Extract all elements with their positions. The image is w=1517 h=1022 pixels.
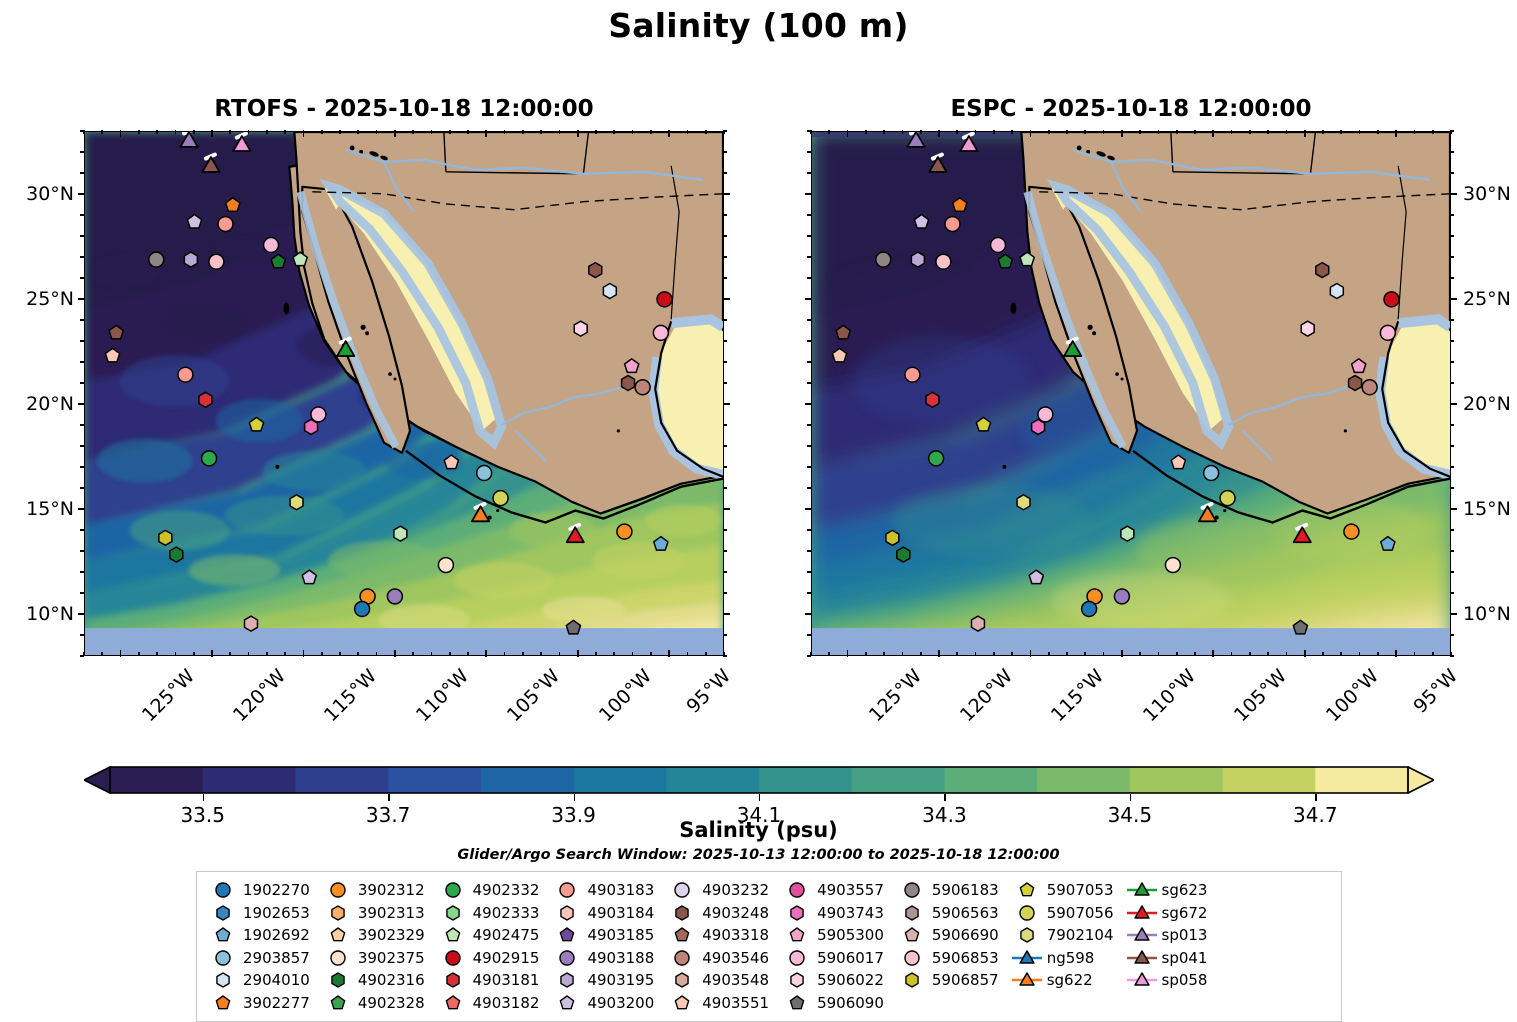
legend-entry[interactable]: 5906690 [895, 924, 999, 947]
legend-entry[interactable]: 1902653 [206, 902, 310, 925]
y-minor-tick [1450, 130, 1454, 132]
legend-label: sp013 [1162, 926, 1208, 944]
y-minor-tick [723, 487, 727, 489]
x-minor-tick [138, 652, 140, 656]
legend-entry[interactable]: 1902692 [206, 924, 310, 947]
legend-entry[interactable]: 3902277 [206, 992, 310, 1015]
legend-label: sg622 [1047, 971, 1093, 989]
platform-marker[interactable] [1038, 407, 1053, 422]
triangle-marker-icon [1010, 948, 1044, 968]
legend-entry[interactable]: sg622 [1010, 969, 1114, 992]
map-rtofs[interactable] [84, 131, 724, 656]
colorbar[interactable]: 33.533.733.934.134.334.534.7 [84, 766, 1434, 794]
y-minor-tick [807, 634, 811, 636]
platform-marker[interactable] [1384, 292, 1399, 307]
y-tick [1450, 508, 1457, 510]
legend-entry[interactable]: 4902332 [436, 879, 540, 902]
x-minor-tick [595, 652, 597, 656]
platform-marker[interactable] [438, 558, 453, 573]
legend-label: sg672 [1162, 904, 1208, 922]
legend-label: 4903551 [702, 994, 769, 1012]
x-tick [847, 650, 849, 657]
platform-marker[interactable] [589, 263, 602, 278]
platform-marker[interactable] [226, 198, 240, 212]
legend-label: 4902915 [473, 949, 540, 967]
platform-marker[interactable] [617, 524, 632, 539]
x-tick-label: 110°W [1139, 665, 1200, 726]
circle-marker-icon [780, 948, 814, 968]
figure-root: Salinity (100 m) RTOFS - 2025-10-18 12:0… [0, 0, 1517, 1015]
x-minor-tick [1432, 652, 1434, 656]
platform-marker[interactable] [1220, 491, 1235, 506]
panel-rtofs: RTOFS - 2025-10-18 12:00:00 [84, 131, 724, 656]
x-tick [1395, 130, 1397, 137]
platform-marker[interactable] [654, 537, 668, 551]
y-tick [78, 193, 85, 195]
x-tick [577, 130, 579, 137]
legend-entry[interactable]: 4902915 [436, 947, 540, 970]
circle-marker-icon [895, 880, 929, 900]
platform-marker[interactable] [477, 466, 492, 481]
y-minor-tick [80, 319, 84, 321]
platform-marker[interactable] [209, 254, 224, 269]
x-minor-tick [540, 130, 542, 134]
legend-entry[interactable]: 4903200 [550, 992, 654, 1015]
x-tick-label: 95°W [683, 665, 736, 718]
platform-marker[interactable] [1293, 620, 1307, 634]
legend-label: 4903318 [702, 926, 769, 944]
platform-marker[interactable] [945, 217, 960, 232]
x-minor-tick [376, 130, 378, 134]
y-minor-tick [723, 592, 727, 594]
hexagon-marker-icon [321, 903, 355, 923]
platform-marker[interactable] [1380, 325, 1395, 340]
platform-marker[interactable] [897, 547, 910, 562]
platform-marker[interactable] [311, 407, 326, 422]
x-minor-tick [540, 652, 542, 656]
x-minor-tick [828, 130, 830, 134]
pentagon-marker-icon [321, 993, 355, 1013]
legend-entry[interactable]: 3902329 [321, 924, 425, 947]
platform-marker[interactable] [1171, 455, 1185, 469]
x-minor-tick [1103, 652, 1105, 656]
legend-label: 1902270 [243, 881, 310, 899]
legend-entry[interactable]: 4903184 [550, 902, 654, 925]
platform-marker[interactable] [929, 451, 944, 466]
legend-entry[interactable]: 3902313 [321, 902, 425, 925]
legend-entry[interactable]: sp058 [1125, 969, 1208, 992]
x-minor-tick [865, 652, 867, 656]
x-minor-tick [1231, 130, 1233, 134]
platform-marker[interactable] [1349, 376, 1362, 391]
x-minor-tick [632, 652, 634, 656]
platform-marker[interactable] [355, 602, 370, 617]
x-tick [847, 130, 849, 137]
y-tick [805, 613, 812, 615]
x-minor-tick [1048, 130, 1050, 134]
platform-marker[interactable] [493, 491, 508, 506]
x-minor-tick [1066, 130, 1068, 134]
x-tick [211, 130, 213, 137]
platform-marker[interactable] [170, 547, 183, 562]
legend-label: 5905300 [817, 926, 884, 944]
y-minor-tick [1450, 571, 1454, 573]
legend-column: 590705359070567902104ng598sg622 [1010, 879, 1114, 992]
x-tick-label: 100°W [595, 665, 656, 726]
platform-marker[interactable] [218, 217, 233, 232]
hexagon-marker-icon [780, 970, 814, 990]
platform-marker[interactable] [202, 451, 217, 466]
y-minor-tick [1450, 634, 1454, 636]
circle-marker-icon [206, 880, 240, 900]
platform-marker[interactable] [1352, 359, 1366, 373]
platform-marker[interactable] [1381, 537, 1395, 551]
legend-label: 4902475 [473, 926, 540, 944]
platform-marker[interactable] [178, 367, 193, 382]
legend-entry[interactable]: 3902312 [321, 879, 425, 902]
circle-marker-icon [321, 880, 355, 900]
y-tick-label: 20°N [1463, 393, 1511, 415]
x-minor-tick [595, 130, 597, 134]
legend-label: 4903188 [587, 949, 654, 967]
platform-marker[interactable] [972, 616, 985, 631]
platform-marker[interactable] [305, 420, 318, 435]
y-minor-tick [1450, 151, 1454, 153]
legend-entry[interactable]: 4903181 [436, 969, 540, 992]
platform-marker[interactable] [832, 348, 846, 362]
legend-entry[interactable]: sg623 [1125, 879, 1208, 902]
platform-marker[interactable] [567, 525, 584, 542]
platform-marker[interactable] [622, 376, 635, 391]
x-minor-tick [1084, 130, 1086, 134]
platform-marker[interactable] [635, 380, 650, 395]
platform-marker[interactable] [991, 237, 1006, 252]
x-minor-tick [522, 130, 524, 134]
platform-marker[interactable] [1121, 526, 1134, 541]
x-tick [1121, 130, 1123, 137]
legend-entry[interactable]: 4903546 [665, 947, 769, 970]
panel-espc-title: ESPC - 2025-10-18 12:00:00 [811, 96, 1451, 122]
platform-marker[interactable] [936, 254, 951, 269]
platform-marker[interactable] [271, 254, 285, 268]
legend-entry[interactable]: 5907056 [1010, 902, 1114, 925]
platform-legend: 1902270190265319026922903857290401039022… [196, 871, 1342, 1022]
hexagon-marker-icon [321, 970, 355, 990]
legend-label: 4903546 [702, 949, 769, 967]
legend-entry[interactable]: 5906022 [780, 969, 884, 992]
platform-marker[interactable] [180, 132, 197, 147]
pentagon-marker-icon [780, 993, 814, 1013]
colorbar-tick [1130, 794, 1131, 801]
y-minor-tick [80, 151, 84, 153]
y-minor-tick [807, 151, 811, 153]
platform-marker[interactable] [1064, 339, 1081, 356]
legend-entry[interactable]: 4903232 [665, 879, 769, 902]
legend-entry[interactable]: 5906853 [895, 947, 999, 970]
platform-marker[interactable] [1362, 380, 1377, 395]
platform-marker[interactable] [1316, 263, 1329, 278]
x-tick [668, 650, 670, 657]
platform-marker[interactable] [290, 495, 303, 510]
legend-entry[interactable]: sg672 [1125, 902, 1208, 925]
platform-marker[interactable] [653, 325, 668, 340]
platform-marker[interactable] [976, 417, 990, 431]
y-minor-tick [80, 655, 84, 657]
platform-marker[interactable] [911, 252, 924, 267]
x-minor-tick [504, 130, 506, 134]
platform-marker[interactable] [1029, 570, 1043, 584]
legend-entry[interactable]: 5906090 [780, 992, 884, 1015]
legend-column: 4902332490233349024754902915490318149031… [436, 879, 540, 1014]
platform-marker[interactable] [926, 392, 939, 407]
y-minor-tick [807, 445, 811, 447]
legend-entry[interactable]: 2904010 [206, 969, 310, 992]
y-minor-tick [1450, 466, 1454, 468]
legend-entry[interactable]: 4902316 [321, 969, 425, 992]
x-tick-label: 115°W [1047, 665, 1108, 726]
platform-marker[interactable] [387, 589, 402, 604]
x-minor-tick [284, 652, 286, 656]
platform-marker[interactable] [574, 321, 587, 336]
legend-entry[interactable]: 4903195 [550, 969, 654, 992]
platform-marker[interactable] [960, 134, 977, 151]
x-tick-label: 105°W [503, 665, 564, 726]
x-minor-tick [650, 130, 652, 134]
y-minor-tick [1450, 214, 1454, 216]
legend-label: sp041 [1162, 949, 1208, 967]
y-minor-tick [1450, 382, 1454, 384]
x-minor-tick [1322, 652, 1324, 656]
x-tick [1212, 130, 1214, 137]
legend-entry[interactable]: 4902328 [321, 992, 425, 1015]
y-minor-tick [80, 424, 84, 426]
y-tick [78, 403, 85, 405]
platform-marker[interactable] [1082, 602, 1097, 617]
platform-marker[interactable] [233, 134, 250, 151]
pentagon-marker-icon [321, 925, 355, 945]
legend-entry[interactable]: 5906857 [895, 969, 999, 992]
legend-label: 4902333 [473, 904, 540, 922]
legend-entry[interactable]: 3902375 [321, 947, 425, 970]
y-minor-tick [807, 214, 811, 216]
y-minor-tick [1450, 277, 1454, 279]
legend-entry[interactable]: 4903183 [550, 879, 654, 902]
x-minor-tick [613, 130, 615, 134]
x-minor-tick [1377, 130, 1379, 134]
x-minor-tick [1231, 652, 1233, 656]
legend-label: 4903743 [817, 904, 884, 922]
legend-columns: 1902270190265319026922903857290401039022… [206, 879, 1332, 1014]
y-tick [805, 193, 812, 195]
legend-label: 4902316 [358, 971, 425, 989]
platform-marker[interactable] [1199, 504, 1216, 521]
circle-marker-icon [1010, 903, 1044, 923]
y-minor-tick [80, 214, 84, 216]
y-minor-tick [80, 235, 84, 237]
legend-entry[interactable]: 4903188 [550, 947, 654, 970]
legend-entry[interactable]: 5907053 [1010, 879, 1114, 902]
legend-entry[interactable]: 7902104 [1010, 924, 1114, 947]
platform-marker[interactable] [1301, 321, 1314, 336]
legend-entry[interactable]: 4903182 [436, 992, 540, 1015]
platform-marker[interactable] [998, 254, 1012, 268]
x-tick [120, 650, 122, 657]
platform-marker[interactable] [886, 530, 899, 545]
legend-label: 5906690 [932, 926, 999, 944]
x-tick [668, 130, 670, 137]
legend-label: 5906090 [817, 994, 884, 1012]
legend-entry[interactable]: 4902333 [436, 902, 540, 925]
platform-marker[interactable] [914, 214, 928, 228]
platform-marker[interactable] [472, 504, 489, 521]
y-tick [1450, 193, 1457, 195]
x-minor-tick [266, 652, 268, 656]
legend-entry[interactable]: 4903248 [665, 902, 769, 925]
x-tick-label: 125°W [137, 665, 198, 726]
platform-marker[interactable] [249, 417, 263, 431]
platform-marker[interactable] [1294, 525, 1311, 542]
x-minor-tick [1194, 130, 1196, 134]
legend-entry[interactable]: 4903743 [780, 902, 884, 925]
platform-marker[interactable] [1165, 558, 1180, 573]
x-minor-tick [1377, 652, 1379, 656]
x-minor-tick [975, 652, 977, 656]
y-tick-label: 25°N [0, 288, 74, 310]
platform-marker[interactable] [953, 198, 967, 212]
x-minor-tick [193, 652, 195, 656]
legend-entry[interactable]: sp013 [1125, 924, 1208, 947]
x-tick-label: 110°W [412, 665, 473, 726]
platform-marker[interactable] [876, 252, 891, 267]
triangle-marker-icon [1125, 880, 1159, 900]
platform-marker[interactable] [264, 237, 279, 252]
legend-entry[interactable]: 2903857 [206, 947, 310, 970]
y-minor-tick [723, 214, 727, 216]
legend-entry[interactable]: 4903548 [665, 969, 769, 992]
y-minor-tick [80, 382, 84, 384]
legend-entry[interactable]: 4903557 [780, 879, 884, 902]
legend-label: 5906857 [932, 971, 999, 989]
platform-marker[interactable] [1017, 495, 1030, 510]
platform-marker[interactable] [187, 214, 201, 228]
y-minor-tick [1450, 592, 1454, 594]
legend-entry[interactable]: 4903185 [550, 924, 654, 947]
platform-marker[interactable] [105, 348, 119, 362]
platform-marker[interactable] [1204, 466, 1219, 481]
x-minor-tick [321, 130, 323, 134]
legend-label: 5906853 [932, 949, 999, 967]
map-espc[interactable] [811, 131, 1451, 656]
x-minor-tick [613, 652, 615, 656]
x-minor-tick [956, 652, 958, 656]
y-minor-tick [723, 445, 727, 447]
colorbar-label: Salinity (psu) [0, 818, 1517, 842]
platform-marker[interactable] [1032, 420, 1045, 435]
x-minor-tick [993, 130, 995, 134]
y-tick [723, 193, 730, 195]
legend-entry[interactable]: 5906183 [895, 879, 999, 902]
legend-column: 4903183490318449031854903188490319549032… [550, 879, 654, 1014]
x-minor-tick [1249, 652, 1251, 656]
y-minor-tick [1450, 340, 1454, 342]
x-minor-tick [1139, 652, 1141, 656]
platform-marker[interactable] [199, 392, 212, 407]
platform-marker[interactable] [245, 616, 258, 631]
y-minor-tick [80, 571, 84, 573]
platform-marker[interactable] [603, 284, 616, 299]
x-tick [303, 650, 305, 657]
x-minor-tick [339, 652, 341, 656]
y-minor-tick [723, 655, 727, 657]
x-minor-tick [865, 130, 867, 134]
y-minor-tick [80, 130, 84, 132]
y-minor-tick [723, 571, 727, 573]
x-minor-tick [248, 130, 250, 134]
platform-marker[interactable] [149, 252, 164, 267]
legend-entry[interactable]: 1902270 [206, 879, 310, 902]
triangle-marker-icon [1125, 970, 1159, 990]
legend-entry[interactable]: 4902475 [436, 924, 540, 947]
y-minor-tick [807, 256, 811, 258]
legend-entry[interactable]: ng598 [1010, 947, 1114, 970]
y-tick-label: 20°N [0, 393, 74, 415]
x-minor-tick [449, 130, 451, 134]
y-minor-tick [723, 319, 727, 321]
platform-marker[interactable] [836, 325, 850, 339]
platform-marker[interactable] [109, 325, 123, 339]
y-tick-label: 15°N [0, 498, 74, 520]
platform-marker[interactable] [1020, 252, 1034, 266]
legend-entry[interactable]: 5906563 [895, 902, 999, 925]
legend-entry[interactable]: sp041 [1125, 947, 1208, 970]
x-minor-tick [175, 130, 177, 134]
platform-marker[interactable] [625, 359, 639, 373]
pentagon-marker-icon [665, 993, 699, 1013]
x-minor-tick [156, 652, 158, 656]
legend-label: 2903857 [243, 949, 310, 967]
legend-entry[interactable]: 5906017 [780, 947, 884, 970]
y-minor-tick [80, 172, 84, 174]
pentagon-marker-icon [780, 925, 814, 945]
platform-marker[interactable] [159, 530, 172, 545]
legend-entry[interactable]: 4903318 [665, 924, 769, 947]
platform-marker[interactable] [302, 570, 316, 584]
platform-marker[interactable] [1114, 589, 1129, 604]
x-minor-tick [376, 652, 378, 656]
legend-entry[interactable]: 4903551 [665, 992, 769, 1015]
platform-marker[interactable] [337, 339, 354, 356]
platform-marker[interactable] [1344, 524, 1359, 539]
platform-marker[interactable] [293, 252, 307, 266]
y-minor-tick [80, 361, 84, 363]
legend-entry[interactable]: 5905300 [780, 924, 884, 947]
platform-marker[interactable] [444, 455, 458, 469]
platform-marker[interactable] [657, 292, 672, 307]
platform-marker[interactable] [202, 155, 219, 172]
platform-marker[interactable] [907, 132, 924, 147]
platform-marker[interactable] [905, 367, 920, 382]
platform-marker[interactable] [184, 252, 197, 267]
platform-marker[interactable] [1330, 284, 1343, 299]
x-minor-tick [357, 652, 359, 656]
x-minor-tick [431, 652, 433, 656]
circle-marker-icon [895, 948, 929, 968]
colorbar-gradient [84, 766, 1434, 794]
platform-marker[interactable] [394, 526, 407, 541]
legend-column: 1902270190265319026922903857290401039022… [206, 879, 310, 1014]
platform-marker[interactable] [929, 155, 946, 172]
platform-marker[interactable] [566, 620, 580, 634]
